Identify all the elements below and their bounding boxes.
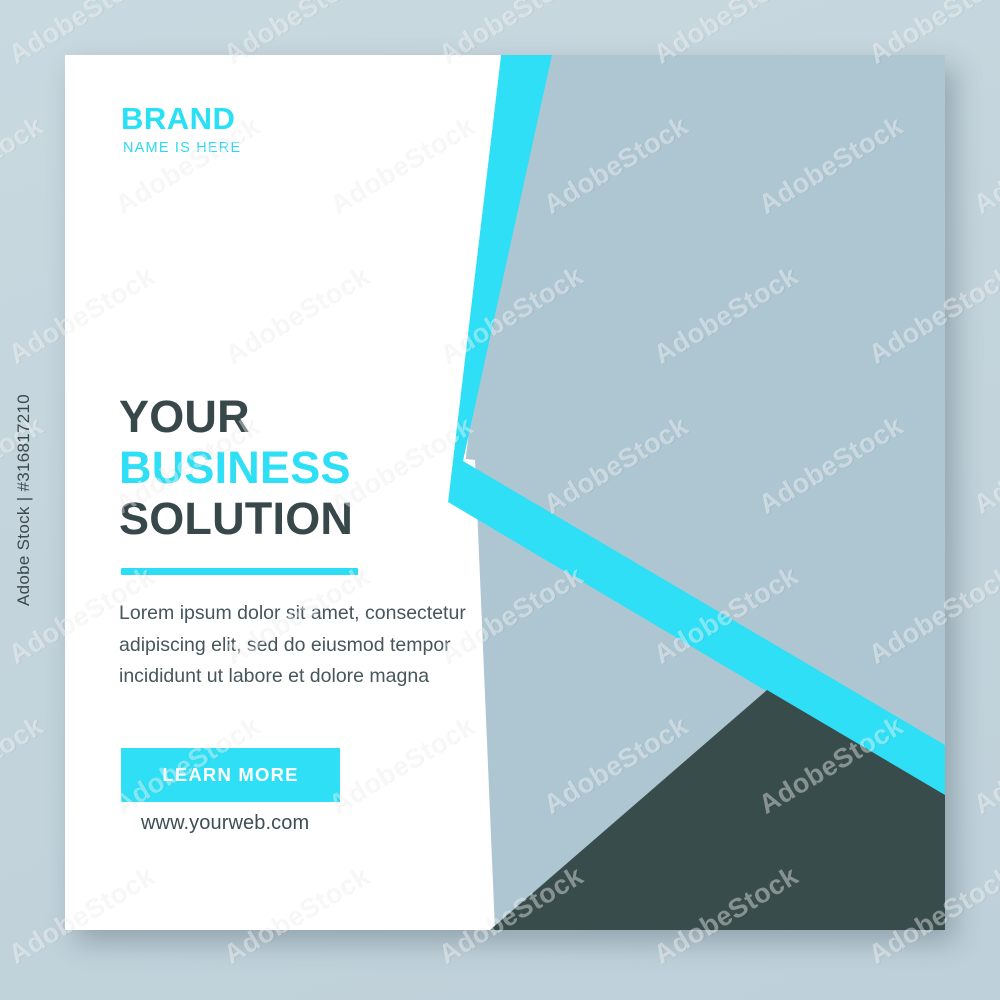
headline-line-1: YOUR (119, 392, 353, 443)
headline-line-3: SOLUTION (119, 494, 353, 545)
headline-line-2: BUSINESS (119, 443, 353, 494)
watermark-text: AdobeStock (969, 110, 1000, 220)
watermark-text: AdobeStock (0, 710, 49, 820)
poster-canvas: BRAND NAME IS HERE YOUR BUSINESS SOLUTIO… (0, 0, 1000, 1000)
website-url: www.yourweb.com (141, 812, 309, 835)
watermark-text: AdobeStock (969, 410, 1000, 520)
brand-name: BRAND (121, 103, 241, 134)
brand-lockup: BRAND NAME IS HERE (121, 103, 241, 156)
paragraph-line-3: incididunt ut labore et dolore magna (119, 661, 539, 693)
accent-rule-divider (121, 568, 358, 575)
paragraph-line-2: adipiscing elit, sed do eiusmod tempor (119, 630, 539, 662)
stock-id-caption: Adobe Stock | #316817210 (14, 394, 34, 606)
paragraph-line-1: Lorem ipsum dolor sit amet, consectetur (119, 598, 539, 630)
brand-tagline: NAME IS HERE (123, 141, 241, 156)
headline-block: YOUR BUSINESS SOLUTION (119, 392, 353, 545)
watermark-text: AdobeStock (969, 710, 1000, 820)
watermark-text: AdobeStock (0, 110, 49, 220)
card-content: BRAND NAME IS HERE YOUR BUSINESS SOLUTIO… (65, 55, 945, 930)
learn-more-button[interactable]: LEARN MORE (121, 748, 340, 802)
body-paragraph: Lorem ipsum dolor sit amet, consectetur … (119, 598, 539, 693)
poster-card: BRAND NAME IS HERE YOUR BUSINESS SOLUTIO… (65, 55, 945, 930)
